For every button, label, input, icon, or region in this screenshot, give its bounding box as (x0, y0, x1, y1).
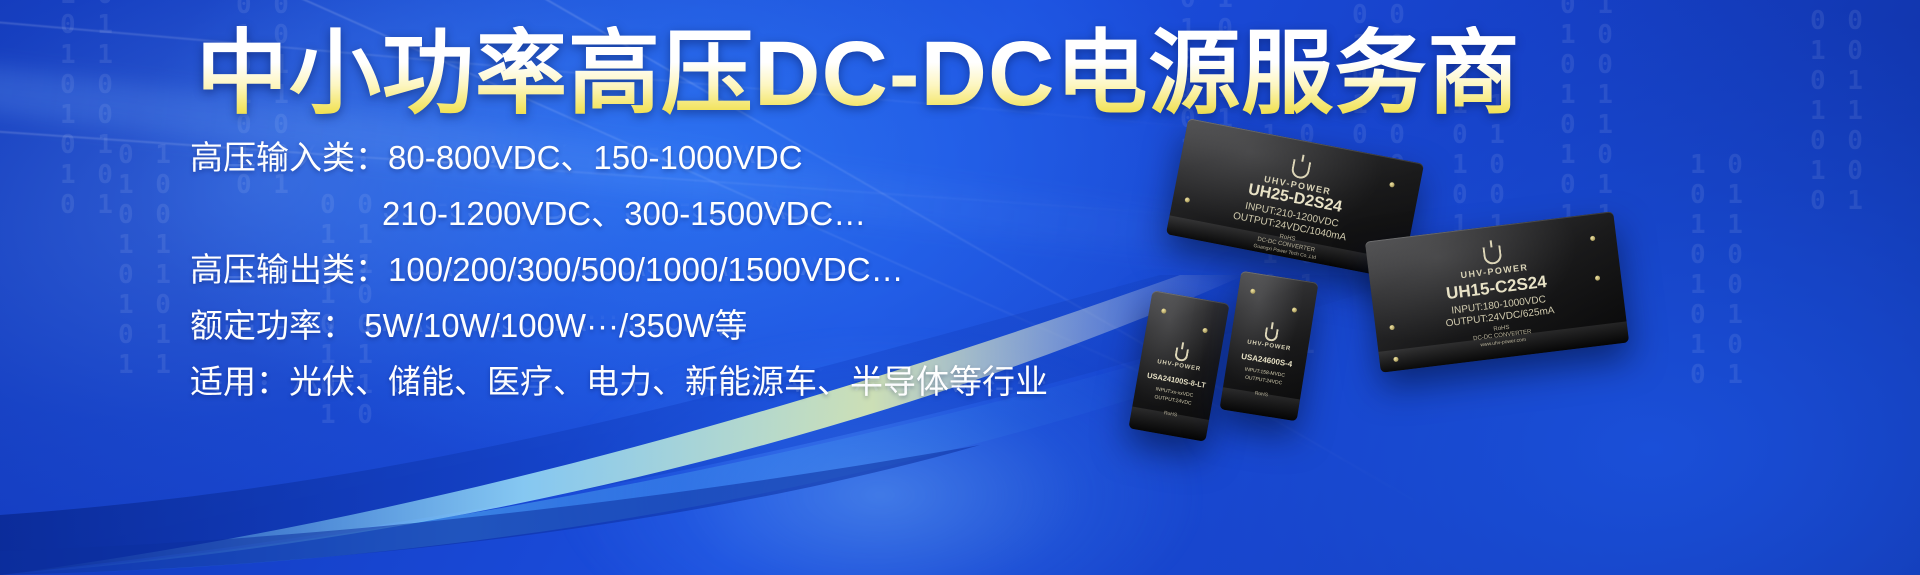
spec-list: 高压输入类：80-800VDC、150-1000VDC 高压输入类：80-800… (190, 138, 1190, 418)
spec-line-applications: 适用：光伏、储能、医疗、电力、新能源车、半导体等行业 适用：光伏、储能、医疗、电… (190, 362, 1190, 402)
spec-text: 高压输出类：100/200/300/500/1000/1500VDC… (190, 251, 904, 288)
spec-line-input-2: 210-1200VDC、300-1500VDC… 210-1200VDC、300… (190, 194, 1190, 234)
spec-text: 210-1200VDC、300-1500VDC… (382, 195, 866, 232)
spec-text: 额定功率： 5W/10W/100W···/350W等 (190, 307, 747, 344)
binary-column: 0 1 1 0 0 0 1 1 0 1 1 0 0 1 1 1 (118, 140, 174, 380)
spec-text: 高压输入类：80-800VDC、150-1000VDC (190, 139, 803, 176)
promo-banner: 1 0 0 1 1 1 0 0 1 0 0 1 1 0 0 1 0 1 1 0 … (0, 0, 1920, 575)
product-module-usa24100s: UHV-POWER USA24100S-8-LT INPUT:xx-xxVDC … (1128, 290, 1229, 441)
product-module-group: UHV-POWER UH25-D2S24 INPUT:210-1200VDC O… (1100, 0, 1920, 575)
spec-line-input-1: 高压输入类：80-800VDC、150-1000VDC 高压输入类：80-800… (190, 138, 1190, 178)
product-module-usa24600s: UHV-POWER USA24600S-4 INPUT:158-MVDC OUT… (1220, 271, 1319, 421)
binary-column: 1 0 0 1 1 1 0 0 1 0 0 1 1 0 0 1 (60, 0, 116, 220)
spec-line-output: 高压输出类：100/200/300/500/1000/1500VDC… 高压输出… (190, 250, 1190, 290)
spec-line-power: 额定功率： 5W/10W/100W···/350W等 额定功率： 5W/10W/… (190, 306, 1190, 346)
spec-text: 适用：光伏、储能、医疗、电力、新能源车、半导体等行业 (190, 363, 1048, 400)
